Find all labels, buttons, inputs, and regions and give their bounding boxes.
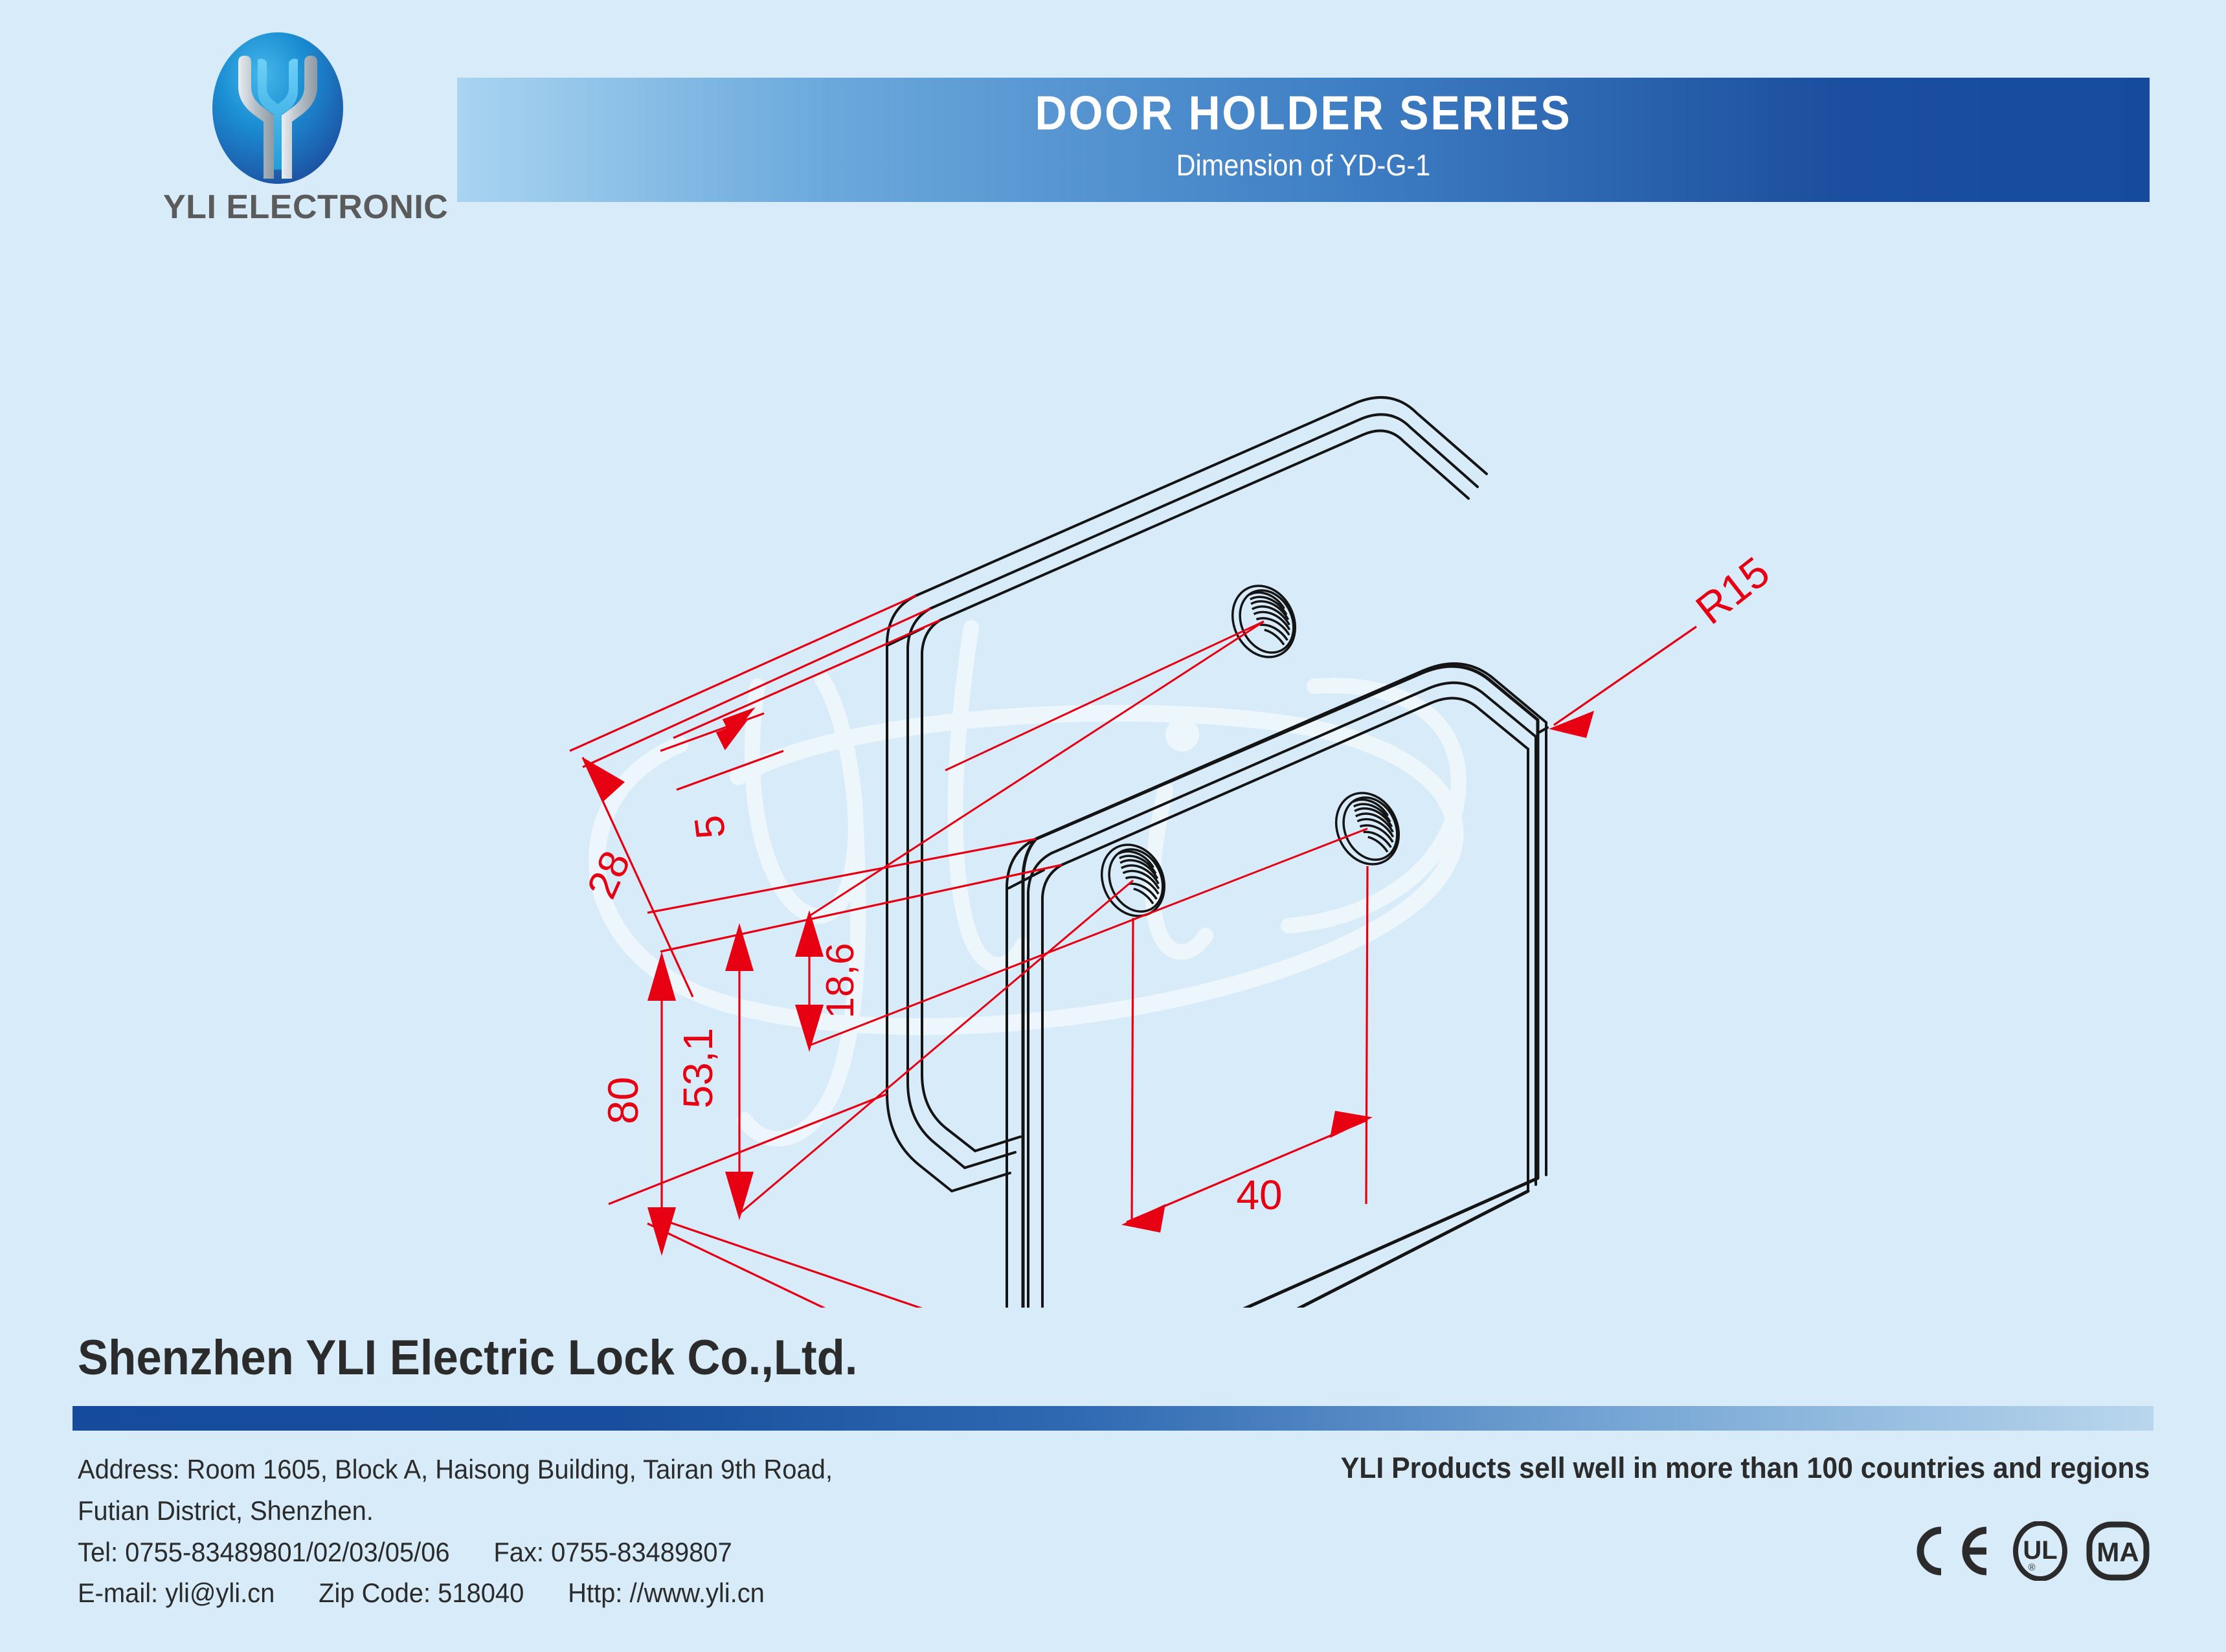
dim-label-40: 40 bbox=[1236, 1172, 1282, 1218]
yli-y-ellipse-logo-icon bbox=[210, 31, 346, 185]
svg-text:MA: MA bbox=[2097, 1537, 2139, 1567]
company-name: Shenzhen YLI Electric Lock Co.,Ltd. bbox=[78, 1330, 857, 1386]
email-value[interactable]: E-mail: yli@yli.cn bbox=[78, 1578, 275, 1608]
svg-text:®: ® bbox=[2028, 1562, 2035, 1573]
ma-mark-icon: MA bbox=[2086, 1521, 2150, 1581]
certification-marks: UL ® MA bbox=[1910, 1521, 2150, 1581]
footer-divider bbox=[73, 1406, 2153, 1431]
bracket-isometric-drawing: 5 28 18,6 53,1 bbox=[0, 233, 2226, 1308]
dim-label-18-6: 18,6 bbox=[818, 943, 862, 1019]
dim-label-r15: R15 bbox=[1687, 547, 1778, 633]
page-footer: Shenzhen YLI Electric Lock Co.,Ltd. Addr… bbox=[0, 1308, 2226, 1652]
fax-value: Fax: 0755-83489807 bbox=[493, 1537, 732, 1567]
ul-mark-icon: UL ® bbox=[2012, 1521, 2068, 1581]
address-line-2: Futian District, Shenzhen. bbox=[78, 1490, 1000, 1532]
title-banner: DOOR HOLDER SERIES Dimension of YD-G-1 bbox=[457, 78, 2150, 202]
page-subtitle: Dimension of YD-G-1 bbox=[542, 150, 2065, 180]
brand-logo-label: YLI ELECTRONIC bbox=[163, 188, 422, 227]
marketing-tagline: YLI Products sell well in more than 100 … bbox=[1340, 1451, 2150, 1485]
leader-line-r15 bbox=[1554, 627, 1696, 725]
zip-value: Zip Code: 518040 bbox=[319, 1578, 524, 1608]
ce-mark-icon bbox=[1910, 1521, 1994, 1581]
brand-logo: YLI ELECTRONIC bbox=[163, 31, 422, 219]
dim-label-28: 28 bbox=[578, 844, 640, 905]
page-title: DOOR HOLDER SERIES bbox=[525, 89, 2082, 137]
tel-fax-line: Tel: 0755-83489801/02/03/05/06 Fax: 0755… bbox=[78, 1532, 1000, 1573]
dim-label-5: 5 bbox=[685, 813, 734, 842]
dimension-annotations: 5 28 18,6 53,1 bbox=[570, 547, 1778, 1308]
document-page: YLI ELECTRONIC DOOR HOLDER SERIES Dimens… bbox=[0, 0, 2226, 1652]
technical-drawing-area: 5 28 18,6 53,1 bbox=[0, 233, 2226, 1308]
address-line-1: Address: Room 1605, Block A, Haisong Bui… bbox=[78, 1449, 1000, 1490]
page-header: YLI ELECTRONIC DOOR HOLDER SERIES Dimens… bbox=[0, 0, 2226, 233]
tel-value: Tel: 0755-83489801/02/03/05/06 bbox=[78, 1537, 450, 1567]
website-value[interactable]: Http: //www.yli.cn bbox=[568, 1578, 765, 1608]
svg-text:UL: UL bbox=[2023, 1536, 2057, 1565]
email-zip-http-line: E-mail: yli@yli.cn Zip Code: 518040 Http… bbox=[78, 1572, 1000, 1614]
contact-info: Address: Room 1605, Block A, Haisong Bui… bbox=[78, 1449, 1049, 1614]
dim-label-80: 80 bbox=[599, 1077, 647, 1124]
dim-label-53-1: 53,1 bbox=[675, 1028, 721, 1109]
